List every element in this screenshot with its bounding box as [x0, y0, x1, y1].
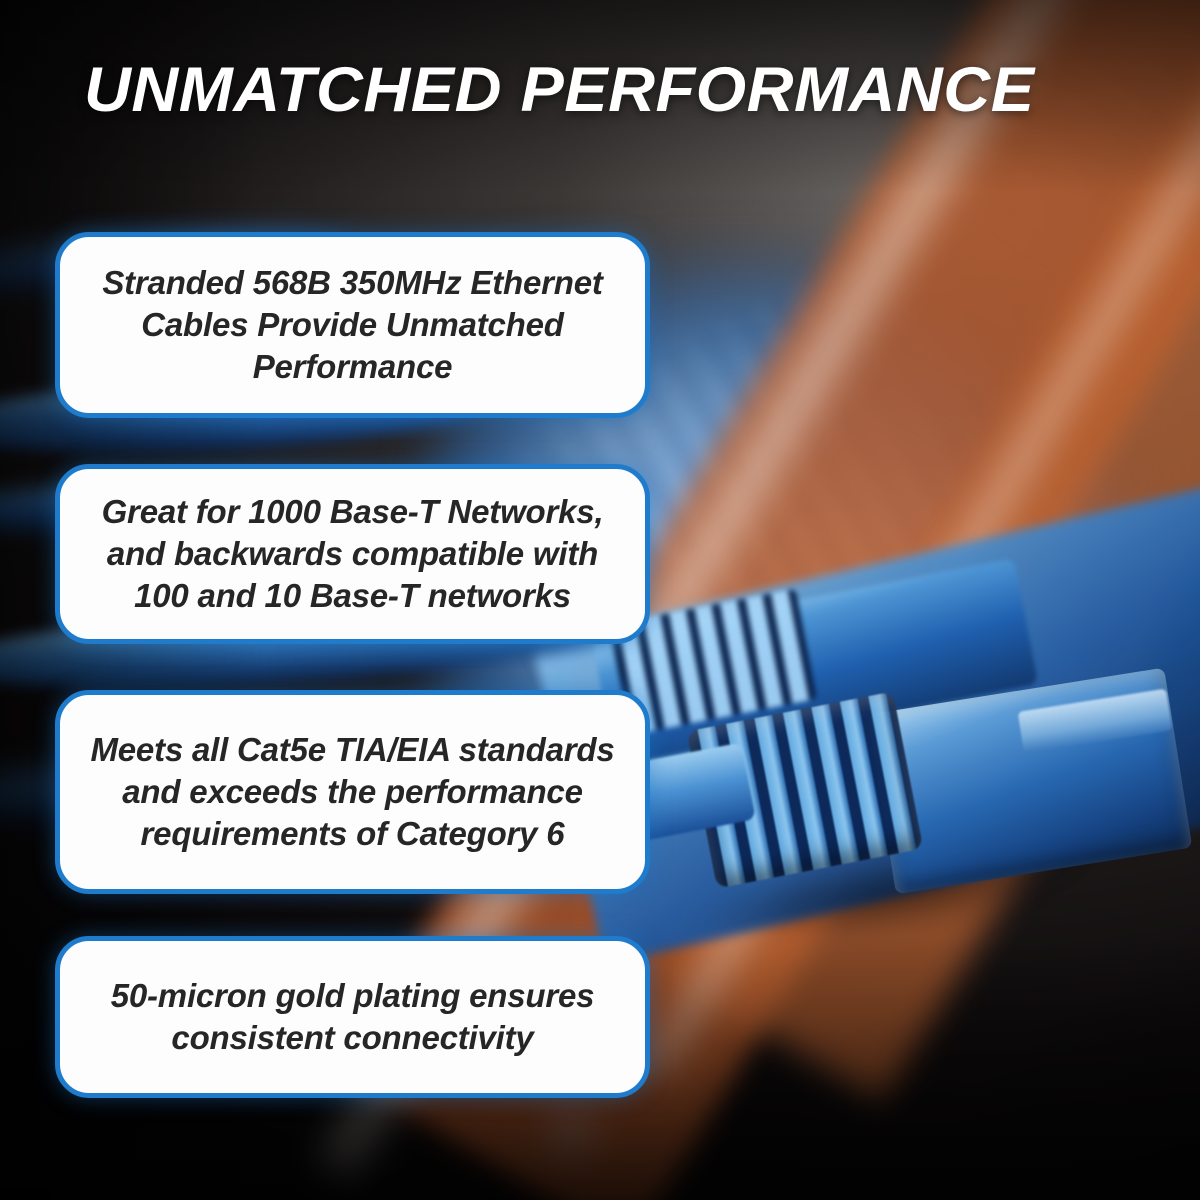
feature-card-text: Meets all Cat5e TIA/EIA standards and ex… [60, 729, 645, 855]
feature-card-text: 50-micron gold plating ensures consisten… [60, 975, 645, 1059]
feature-card: Stranded 568B 350MHz Ethernet Cables Pro… [55, 232, 650, 418]
product-feature-banner: UNMATCHED PERFORMANCE Stranded 568B 350M… [0, 0, 1200, 1200]
feature-card-text: Stranded 568B 350MHz Ethernet Cables Pro… [60, 262, 645, 388]
feature-card-text: Great for 1000 Base-T Networks, and back… [60, 491, 645, 617]
page-title: UNMATCHED PERFORMANCE [84, 56, 1176, 124]
feature-card: Meets all Cat5e TIA/EIA standards and ex… [55, 690, 650, 894]
feature-card: 50-micron gold plating ensures consisten… [55, 936, 650, 1098]
feature-card: Great for 1000 Base-T Networks, and back… [55, 464, 650, 644]
